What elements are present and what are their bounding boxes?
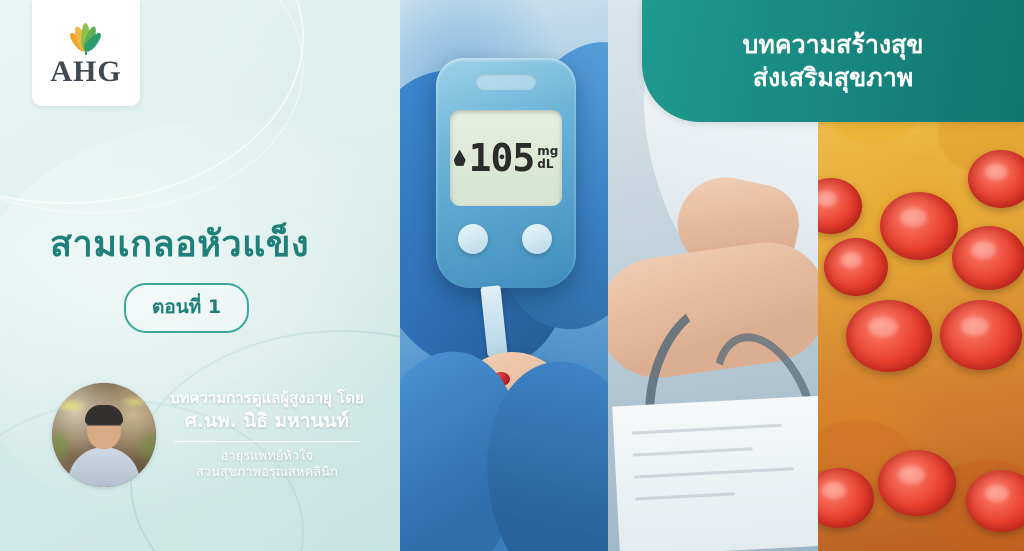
red-blood-cell: [824, 238, 888, 296]
doctor-role: อายุรแพทย์หัวใจ: [170, 449, 364, 465]
meter-button[interactable]: [458, 224, 488, 254]
clipboard-paper: [612, 396, 818, 551]
top-banner-line-2: ส่งเสริมสุขภาพ: [753, 61, 914, 94]
glasses-icon: [87, 424, 121, 435]
episode-badge: ตอนที่ 1: [124, 283, 249, 333]
doctor-credit-block: บทความการดูแลผู้สูงอายุ โดย ศ.นพ. นิธิ ม…: [52, 370, 382, 500]
top-banner: บทความสร้างสุข ส่งเสริมสุขภาพ: [642, 0, 1024, 122]
brand-logo-card[interactable]: AHG: [32, 0, 140, 106]
photo-panel-diabetes: 105 mg dL เบาหวาน: [400, 0, 608, 551]
red-blood-cell: [952, 226, 1024, 290]
red-blood-cell: [880, 192, 958, 260]
meter-button[interactable]: [522, 224, 552, 254]
glucose-meter: 105 mg dL: [436, 58, 576, 288]
meter-display: 105 mg dL: [450, 110, 562, 206]
brand-logo-text: AHG: [50, 57, 121, 87]
blood-drop-icon: [454, 150, 466, 167]
red-blood-cell: [878, 450, 956, 516]
doctor-text-group: บทความการดูแลผู้สูงอายุ โดย ศ.นพ. นิธิ ม…: [170, 389, 364, 481]
red-blood-cell: [846, 300, 932, 372]
divider: [174, 441, 360, 442]
leaf-fan-icon: [63, 19, 109, 55]
doctor-intro: บทความการดูแลผู้สูงอายุ โดย: [170, 389, 364, 408]
doctor-clinic: สวนสุขภาพอรุณสหคลินิก: [170, 465, 364, 481]
health-article-banner: AHG สามเกลอหัวแข็ง ตอนที่ 1 บทความการดูแ…: [0, 0, 1024, 551]
top-banner-line-1: บทความสร้างสุข: [743, 28, 924, 61]
page-title: สามเกลอหัวแข็ง: [50, 215, 309, 272]
doctor-name: ศ.นพ. นิธิ มหานนท์: [170, 410, 364, 434]
unit-denominator: dL: [537, 158, 558, 171]
red-blood-cell: [940, 300, 1022, 370]
avatar: [52, 383, 156, 487]
glucose-reading: 105: [469, 139, 535, 177]
